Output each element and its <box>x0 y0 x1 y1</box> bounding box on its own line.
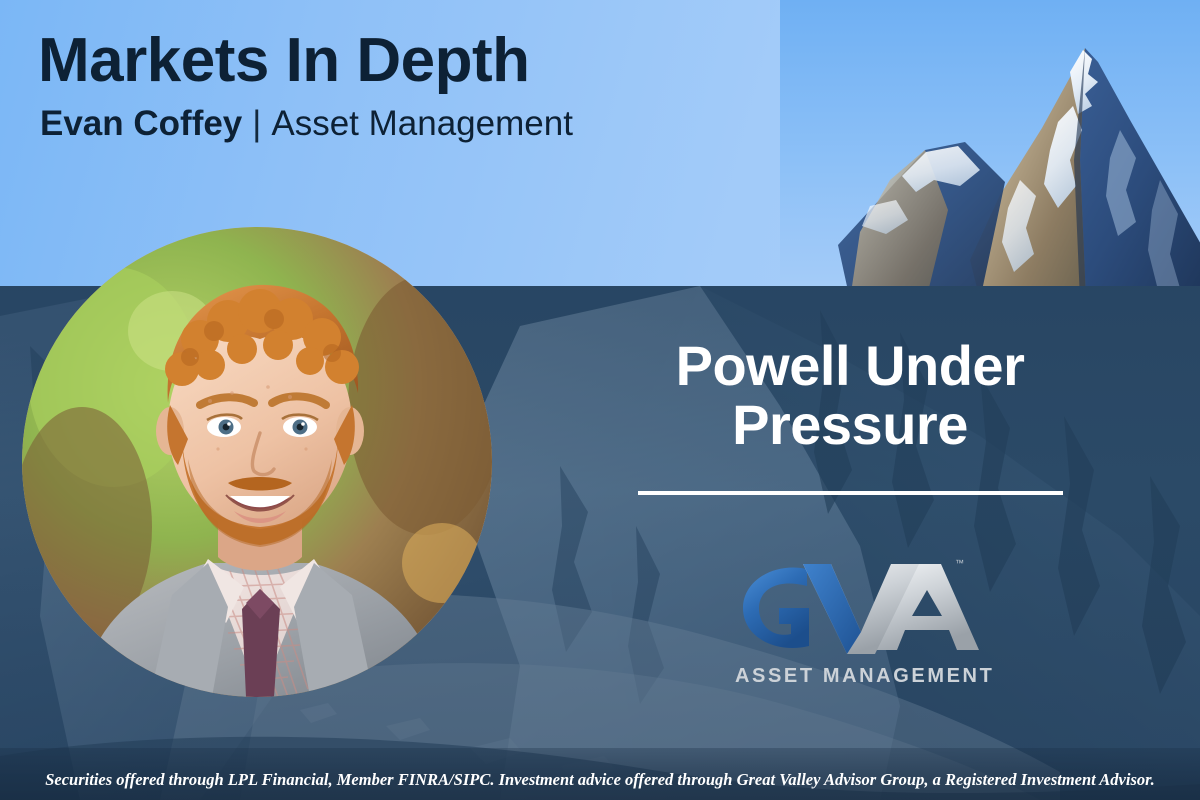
mountain-summit <box>830 10 1200 300</box>
article-title: Powell Under Pressure <box>620 336 1080 455</box>
disclaimer-text: Securities offered through LPL Financial… <box>0 770 1200 790</box>
gva-logo-mark: ™ <box>735 556 980 656</box>
byline: Evan Coffey|Asset Management <box>40 105 573 144</box>
title-divider <box>638 491 1063 495</box>
department-label: Asset Management <box>271 104 573 143</box>
author-name: Evan Coffey <box>40 104 242 143</box>
gva-logo: ™ ASSET MANAGEMENT <box>735 556 980 688</box>
article-title-block: Powell Under Pressure <box>620 336 1080 495</box>
logo-subtitle: ASSET MANAGEMENT <box>735 665 980 688</box>
article-title-line-1: Powell Under <box>676 334 1025 397</box>
page-title: Markets In Depth <box>38 28 573 93</box>
article-title-line-2: Pressure <box>732 393 968 456</box>
trademark-icon: ™ <box>955 558 964 568</box>
avatar <box>22 227 492 697</box>
markets-in-depth-banner: Markets In Depth Evan Coffey|Asset Manag… <box>0 0 1200 800</box>
header-block: Markets In Depth Evan Coffey|Asset Manag… <box>38 28 573 144</box>
byline-separator: | <box>242 104 271 143</box>
